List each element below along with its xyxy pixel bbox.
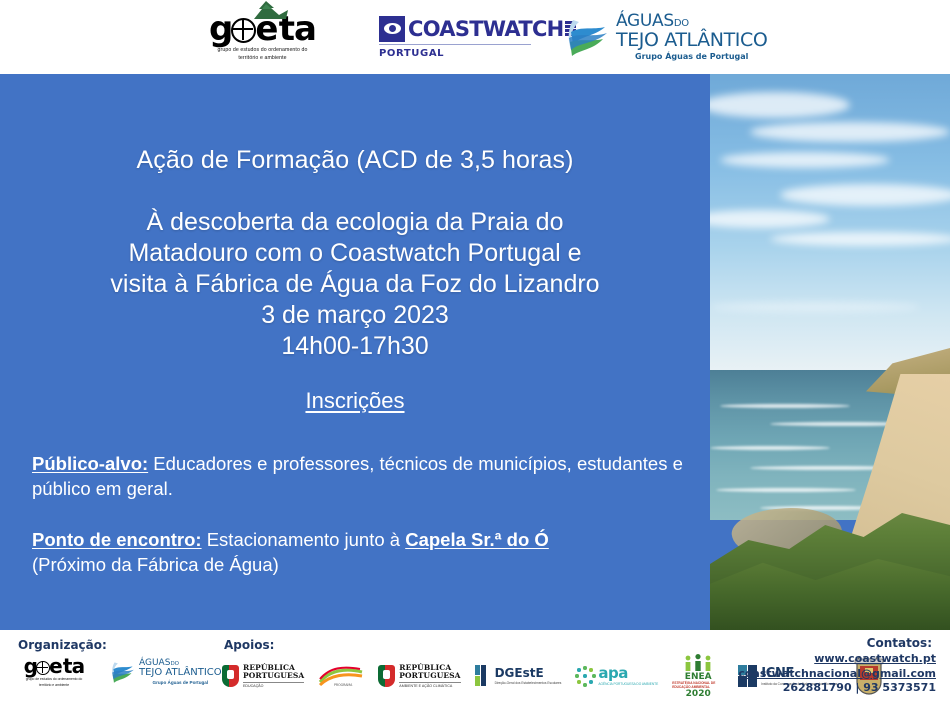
phone-numbers: 262881790 | 93 5373571 xyxy=(738,681,936,696)
audience-label: Público-alvo: xyxy=(32,453,148,474)
event-title-line-2: Matadouro com o Coastwatch Portugal e xyxy=(0,238,710,269)
apa-wordmark: apa xyxy=(598,664,627,682)
people-trees-icon xyxy=(681,654,715,672)
republica-portuguesa-educacao-logo: REPÚBLICA PORTUGUESA EDUCAÇÃO xyxy=(222,664,304,688)
aguas-do-tejo-atlantico-logo: ÁGUASDO TEJO ATLÂNTICO Grupo Águas de Po… xyxy=(565,13,770,61)
dgeste-mark-icon xyxy=(475,665,492,687)
event-title-line-1: À descoberta da ecologia da Praia do xyxy=(0,207,710,238)
apoios-label: Apoios: xyxy=(224,638,274,652)
republica-portuguesa-ambiente-logo: REPÚBLICA PORTUGUESA AMBIENTE E AÇÃO CLI… xyxy=(378,664,460,688)
event-title-line-3: visita à Fábrica de Água da Foz do Lizan… xyxy=(0,269,710,300)
svg-text:PROGRAMA: PROGRAMA xyxy=(334,683,353,687)
apa-sub: AGÊNCIA PORTUGUESA DO AMBIENTE xyxy=(598,683,658,687)
footer: Organização: Apoios: Contatos: ge ta gru… xyxy=(0,630,950,711)
main-blue-panel: Ação de Formação (ACD de 3,5 horas) À de… xyxy=(0,74,950,630)
event-eyebrow: Ação de Formação (ACD de 3,5 horas) xyxy=(0,146,710,175)
dots-circle-icon xyxy=(575,666,595,686)
eye-icon xyxy=(379,16,405,42)
footer-geota-logo: ge ta grupo de estudos do ordenamento do… xyxy=(10,656,98,688)
rp-amb-line2: PORTUGUESA xyxy=(399,672,460,680)
coastwatch-country: PORTUGAL xyxy=(379,48,444,59)
dgeste-logo: DGEstE Direção-Geral dos Estabelecimento… xyxy=(475,665,562,687)
tree-icon xyxy=(252,0,290,20)
coastline-photo xyxy=(710,74,950,630)
divider xyxy=(379,44,531,45)
geota-wordmark: ge ta xyxy=(209,12,316,46)
meeting-text-after: (Próximo da Fábrica de Água) xyxy=(32,554,279,575)
globe-icon xyxy=(36,661,50,675)
footer-geota-tagline-2: território e ambiente xyxy=(12,683,96,688)
meeting-text-before: Estacionamento junto à xyxy=(202,529,406,550)
event-title: À descoberta da ecologia da Praia do Mat… xyxy=(0,207,710,362)
atejo-line1: ÁGUASDO xyxy=(616,13,767,30)
event-date: 3 de março 2023 xyxy=(0,300,710,331)
portugal-shield-icon xyxy=(222,665,239,687)
ribbon-icon: PROGRAMA xyxy=(318,664,364,688)
registration-link-label: Inscrições xyxy=(305,388,404,413)
registration-link[interactable]: Inscrições xyxy=(0,388,710,414)
atejo-line3: Grupo Águas de Portugal xyxy=(616,53,767,61)
apa-logo: apa AGÊNCIA PORTUGUESA DO AMBIENTE xyxy=(575,665,658,687)
meeting-label: Ponto de encontro: xyxy=(32,529,202,550)
event-time: 14h00-17h30 xyxy=(0,331,710,362)
email-link[interactable]: coastwatchnacional@gmail.com xyxy=(738,667,936,682)
geota-logo: ge ta grupo de estudos do ordenamento do… xyxy=(180,12,345,62)
coastwatch-wordmark: COASTWATCH xyxy=(405,16,564,42)
poster: ge ta grupo de estudos do ordenamento do… xyxy=(0,0,950,711)
footer-atejo-line3: Grupo Águas de Portugal xyxy=(139,680,222,685)
globe-icon xyxy=(231,18,256,43)
coastwatch-logo: COASTWATCH PORTUGAL xyxy=(379,16,531,59)
dgeste-sub: Direção-Geral dos Estabelecimentos Escol… xyxy=(495,681,562,685)
dgeste-wordmark: DGEstE xyxy=(495,667,562,679)
organizacao-logos: ge ta grupo de estudos do ordenamento do… xyxy=(10,656,222,688)
footer-atejo-logo: ÁGUASDO TEJO ATLÂNTICO Grupo Águas de Po… xyxy=(110,659,222,686)
rp-edu-line2: PORTUGUESA xyxy=(243,672,304,680)
meeting-place: Capela Sr.ª do Ó xyxy=(405,529,549,550)
water-swoosh-icon xyxy=(110,659,136,685)
footer-atejo-line2: TEJO ATLÂNTICO xyxy=(139,668,222,679)
geota-tagline-2: território e ambiente xyxy=(188,55,338,63)
contatos-block: www.coastwatch.pt coastwatchnacional@gma… xyxy=(738,652,936,696)
enea-2020-logo: ENEA ESTRATÉGIA NACIONAL DE EDUCAÇÃO AMB… xyxy=(672,654,724,699)
contatos-label: Contatos: xyxy=(732,636,932,650)
atejo-line2: TEJO ATLÂNTICO xyxy=(616,31,767,50)
audience-paragraph: Público-alvo: Educadores e professores, … xyxy=(32,452,686,502)
footer-geota-wordmark: ge ta xyxy=(24,656,85,676)
rp-edu-sub: EDUCAÇÃO xyxy=(243,682,304,688)
website-link[interactable]: www.coastwatch.pt xyxy=(738,652,936,667)
header-logo-bar: ge ta grupo de estudos do ordenamento do… xyxy=(0,0,950,74)
poster-content: Ação de Formação (ACD de 3,5 horas) À de… xyxy=(0,74,710,630)
organizacao-label: Organização: xyxy=(18,638,107,652)
rp-amb-sub: AMBIENTE E AÇÃO CLIMÁTICA xyxy=(399,682,460,688)
details-block: Público-alvo: Educadores e professores, … xyxy=(0,452,710,578)
portugal-shield-icon xyxy=(378,665,395,687)
meeting-point-paragraph: Ponto de encontro: Estacionamento junto … xyxy=(32,528,686,578)
enea-year: 2020 xyxy=(686,690,711,699)
water-swoosh-icon xyxy=(565,14,611,60)
portugal-energia-programa-logo: PROGRAMA xyxy=(318,664,364,688)
